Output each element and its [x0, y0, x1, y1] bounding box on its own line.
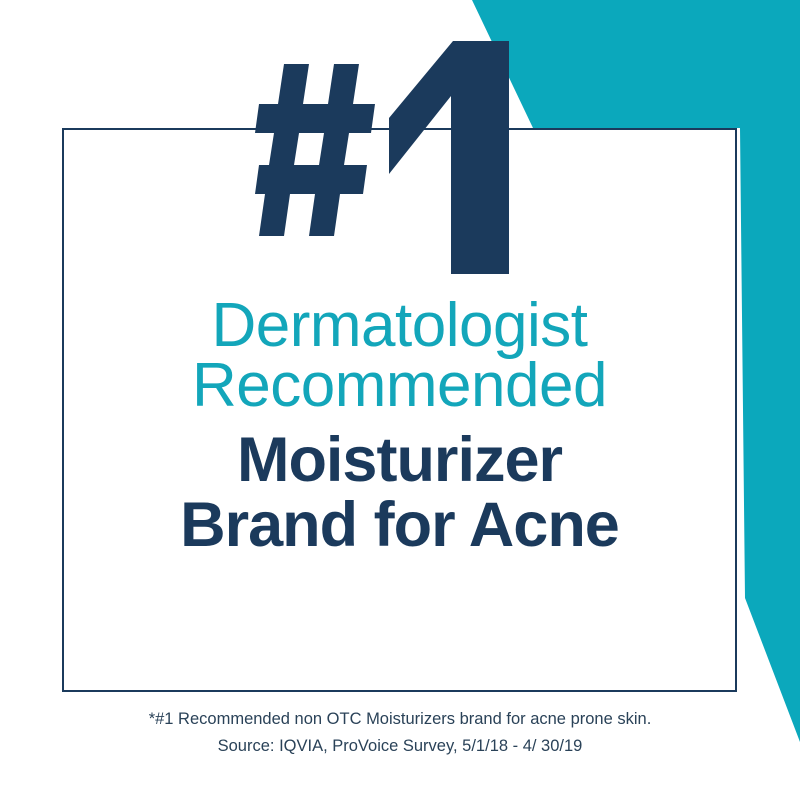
promo-graphic: Dermatologist Recommended Moisturizer Br…: [0, 0, 800, 800]
headline-block: Dermatologist Recommended Moisturizer Br…: [62, 296, 737, 557]
headline-line-2: Recommended: [62, 356, 737, 416]
footnote-block: *#1 Recommended non OTC Moisturizers bra…: [0, 706, 800, 759]
headline-line-4: Brand for Acne: [62, 493, 737, 557]
footnote-line-1: *#1 Recommended non OTC Moisturizers bra…: [0, 706, 800, 733]
headline-line-3: Moisturizer: [62, 428, 737, 492]
footnote-line-2: Source: IQVIA, ProVoice Survey, 5/1/18 -…: [0, 733, 800, 760]
headline-line-1: Dermatologist: [62, 296, 737, 356]
